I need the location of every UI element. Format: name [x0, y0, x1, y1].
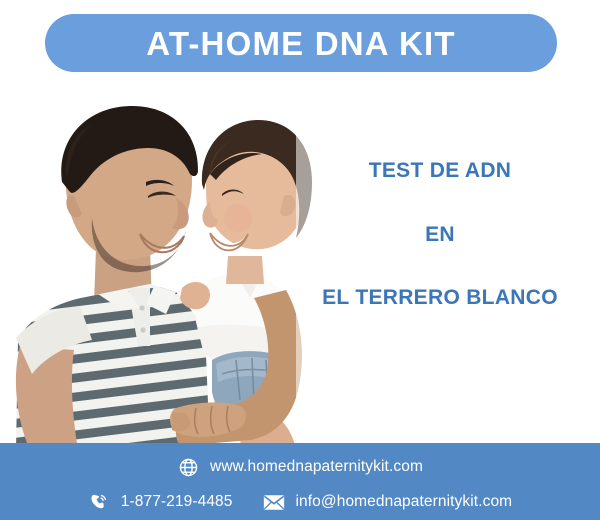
phone-label: 1-877-219-4485 — [121, 493, 233, 511]
headline-line-1: TEST DE ADN — [290, 160, 590, 181]
footer-contact-bar: www.homednapaternitykit.com 1-877-219-44… — [0, 443, 600, 520]
footer-row-website: www.homednapaternitykit.com — [0, 449, 600, 485]
headline-line-3: EL TERRERO BLANCO — [290, 287, 590, 308]
footer-row-phone-email: 1-877-219-4485 info@homednapaternitykit.… — [0, 484, 600, 520]
website-item[interactable]: www.homednapaternitykit.com — [177, 456, 423, 478]
title-banner: AT-HOME DNA KIT — [45, 14, 557, 72]
family-photo — [0, 78, 330, 450]
globe-icon — [177, 456, 199, 478]
headline-line-2: EN — [290, 224, 590, 245]
email-label: info@homednapaternitykit.com — [296, 493, 513, 511]
headline-block: TEST DE ADN EN EL TERRERO BLANCO — [290, 160, 590, 308]
page-title: AT-HOME DNA KIT — [146, 27, 455, 60]
website-label: www.homednapaternitykit.com — [210, 458, 423, 476]
phone-item[interactable]: 1-877-219-4485 — [88, 491, 233, 513]
poster: AT-HOME DNA KIT — [0, 0, 600, 520]
email-item[interactable]: info@homednapaternitykit.com — [263, 491, 513, 513]
envelope-icon — [263, 491, 285, 513]
phone-icon — [88, 491, 110, 513]
